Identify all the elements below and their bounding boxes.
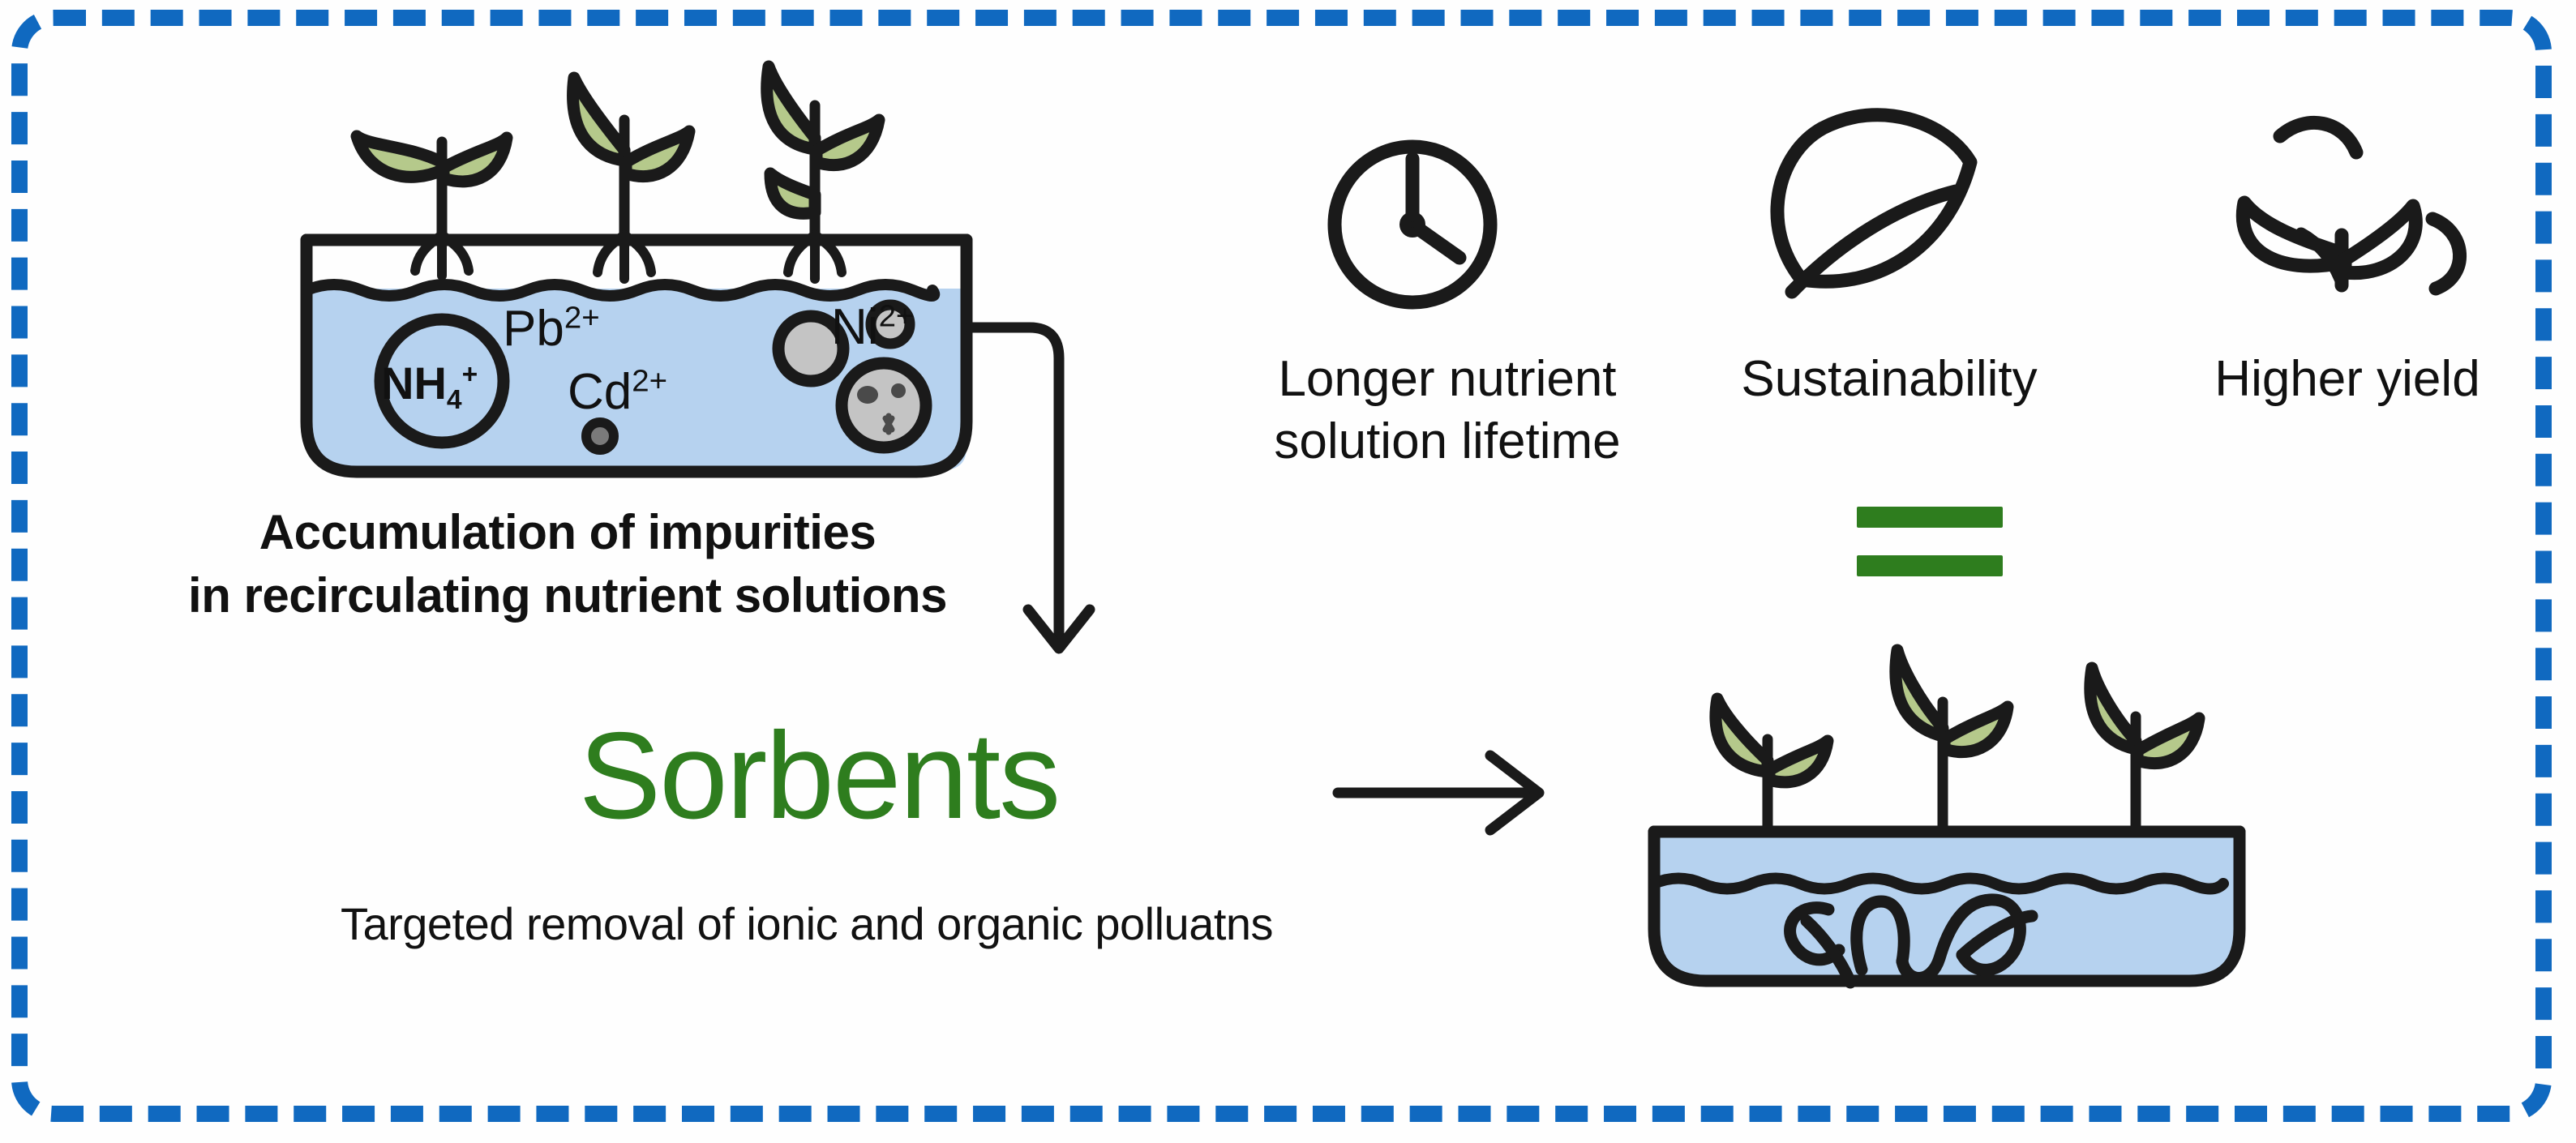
clock-icon: [1335, 147, 1490, 302]
leaf-icon: [1777, 115, 1970, 292]
problem-caption-line2: in recirculating nutrient solutions: [188, 568, 947, 623]
clean-water-fill: [1654, 837, 2238, 979]
lead-ion-label: Pb2+: [503, 300, 600, 357]
clean-tank-group: [1654, 650, 2240, 982]
benefit-label-sustainability: Sustainability: [1614, 349, 2165, 411]
porous-sorbent-particle: [842, 363, 926, 447]
nickel-ion-label: Ni2+: [831, 298, 914, 356]
equals-bar-top: [1857, 507, 2003, 528]
problem-caption-line1: Accumulation of impurities: [259, 505, 876, 559]
benefit-label-yield: Higher yield: [2157, 349, 2538, 411]
equals-bar-bottom: [1857, 555, 2003, 576]
seedling-plant-3: [767, 66, 879, 279]
sorbents-caption: Targeted removal of ionic and organic po…: [138, 900, 1476, 948]
ammonium-ion-label: NH4+: [381, 357, 478, 416]
seedling-plant-1: [357, 136, 507, 276]
right-arrow: [1338, 756, 1539, 830]
cadmium-ion-label: Cd2+: [568, 363, 667, 421]
seedling-plant-2: [573, 78, 689, 279]
sorbents-headline: Sorbents: [454, 709, 1184, 842]
sorbate-particle-tiny: [586, 422, 614, 450]
sprout-growth-icon: [2243, 122, 2459, 289]
equals-sign: [1857, 507, 2003, 604]
problem-caption: Accumulation of impurities in recirculat…: [122, 501, 1014, 627]
water-surface-line-1: [306, 285, 934, 296]
benefit-label-lifetime: Longer nutrient solution lifetime: [1261, 349, 1634, 473]
graphical-abstract-root: NH4+ Pb2+ Cd2+ Ni2+ Accumulation of impu…: [0, 0, 2576, 1143]
